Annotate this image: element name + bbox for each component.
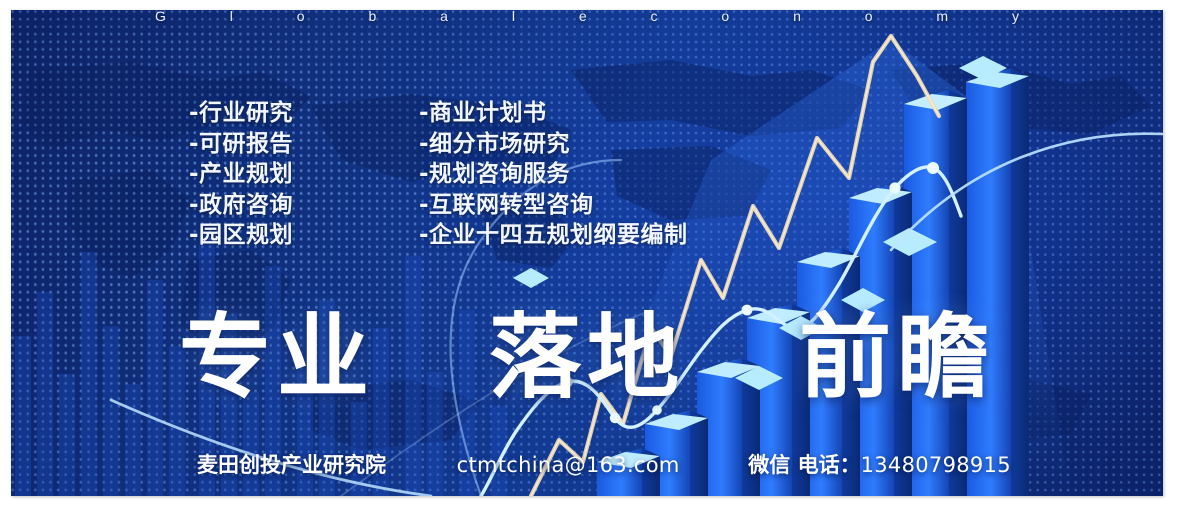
service-item: -互联网转型咨询 [419, 190, 688, 221]
world-map-silhouette [11, 10, 1163, 496]
service-item: -商业计划书 [419, 98, 688, 129]
arc-curve-right [891, 134, 1163, 250]
page-title: 专业 落地 前瞻 [179, 306, 995, 410]
wordmark-global-economy: G l o b a l e c o n o m y [11, 10, 1163, 24]
dot-grid-texture [11, 10, 1163, 496]
service-item: -园区规划 [189, 220, 293, 251]
email-address[interactable]: ctmtchina@163.com [457, 452, 680, 478]
headline-part-2: 落地 [489, 304, 685, 411]
service-list-right: -商业计划书 -细分市场研究 -规划咨询服务 -互联网转型咨询 -企业十四五规划… [419, 98, 688, 251]
footer-contact-bar: 麦田创投产业研究院 ctmtchina@163.com 微信 电话：134807… [197, 452, 1011, 478]
promo-banner: G l o b a l e c o n o m y [11, 10, 1163, 496]
service-item: -产业规划 [189, 159, 293, 190]
service-item: -规划咨询服务 [419, 159, 688, 190]
growth-chart-graphic [11, 10, 1163, 496]
phone-number[interactable]: 13480798915 [861, 452, 1011, 478]
organization-name: 麦田创投产业研究院 [197, 452, 386, 478]
service-item: -企业十四五规划纲要编制 [419, 220, 688, 251]
service-item: -细分市场研究 [419, 129, 688, 160]
service-item: -政府咨询 [189, 190, 293, 221]
service-item: -行业研究 [189, 98, 293, 129]
headline-part-1: 专业 [179, 304, 375, 411]
contact-label: 微信 电话： [748, 452, 860, 478]
service-item: -可研报告 [189, 129, 293, 160]
service-list-left: -行业研究 -可研报告 -产业规划 -政府咨询 -园区规划 [189, 98, 293, 251]
headline-part-3: 前瞻 [799, 304, 995, 411]
arc-curve-left [111, 400, 431, 496]
